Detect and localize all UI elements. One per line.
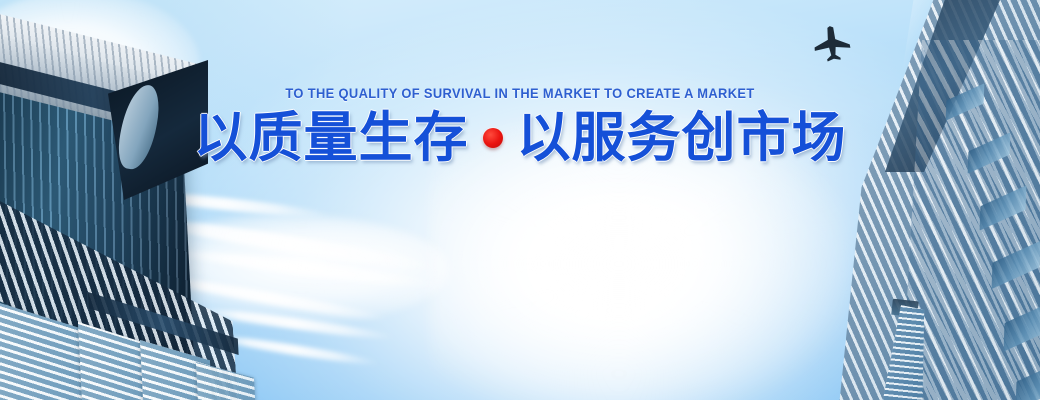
- building-right-window-4: [992, 241, 1040, 289]
- building-left-cornice: [0, 52, 201, 135]
- cirrus-streak-4: [151, 271, 389, 324]
- building-right-facade: [836, 0, 1040, 400]
- headline-row: 以质量生存 以服务创市场: [0, 108, 1040, 168]
- building-left-roof: [0, 0, 203, 143]
- building-left-roof-texture: [0, 0, 203, 143]
- cirrus-streak-3: [170, 246, 440, 292]
- tagline-english: TO THE QUALITY OF SURVIVAL IN THE MARKET…: [42, 84, 999, 102]
- building-right-highlight-edge: [846, 0, 1040, 400]
- building-left-step-4: [196, 362, 257, 400]
- hero-banner: TO THE QUALITY OF SURVIVAL IN THE MARKET…: [0, 0, 1040, 400]
- red-dot-separator-icon: [483, 128, 503, 148]
- building-right-slim-tower: [880, 304, 933, 400]
- building-left-facade: [0, 18, 201, 400]
- sun-glow: [430, 120, 850, 400]
- sky-tint-topleft: [0, 0, 1040, 400]
- building-left-curved-panel: [114, 82, 164, 173]
- building-right-window-5: [1004, 300, 1040, 351]
- cirrus-streak-5: [195, 304, 395, 343]
- building-right-glass-bands: [900, 40, 1040, 400]
- building-left-step-1: [0, 300, 116, 400]
- cirrus-streak-1: [120, 187, 330, 221]
- building-left-shadow-wedge: [108, 60, 208, 200]
- headline-left: 以质量生存: [194, 108, 469, 168]
- building-left-step-3: [140, 340, 214, 400]
- cirrus-streak-6: [210, 332, 379, 368]
- headline-right: 以服务创市场: [517, 108, 847, 168]
- building-left-rail: [88, 292, 239, 355]
- building-right: [830, 0, 1040, 400]
- sky-tint-right: [0, 0, 1040, 400]
- airplane-icon: [806, 20, 858, 67]
- building-right-window-1: [946, 83, 985, 121]
- cloud-upper-left: [0, 0, 200, 140]
- building-right-window-6: [1016, 358, 1040, 400]
- banner-text-block: TO THE QUALITY OF SURVIVAL IN THE MARKET…: [0, 84, 1040, 168]
- building-left-step-2: [78, 322, 167, 400]
- building-right-window-3: [980, 185, 1027, 230]
- cirrus-streak-2: [141, 213, 440, 276]
- building-right-dark-edge: [858, 0, 1008, 172]
- building-right-window-2: [968, 132, 1011, 173]
- building-left-stair-bands: [0, 196, 238, 400]
- cloud-mid-left: [120, 215, 450, 325]
- building-right-slim-tower-cap: [891, 299, 919, 318]
- cloud-upper-left-lobe: [10, 55, 200, 175]
- building-left: [0, 0, 190, 400]
